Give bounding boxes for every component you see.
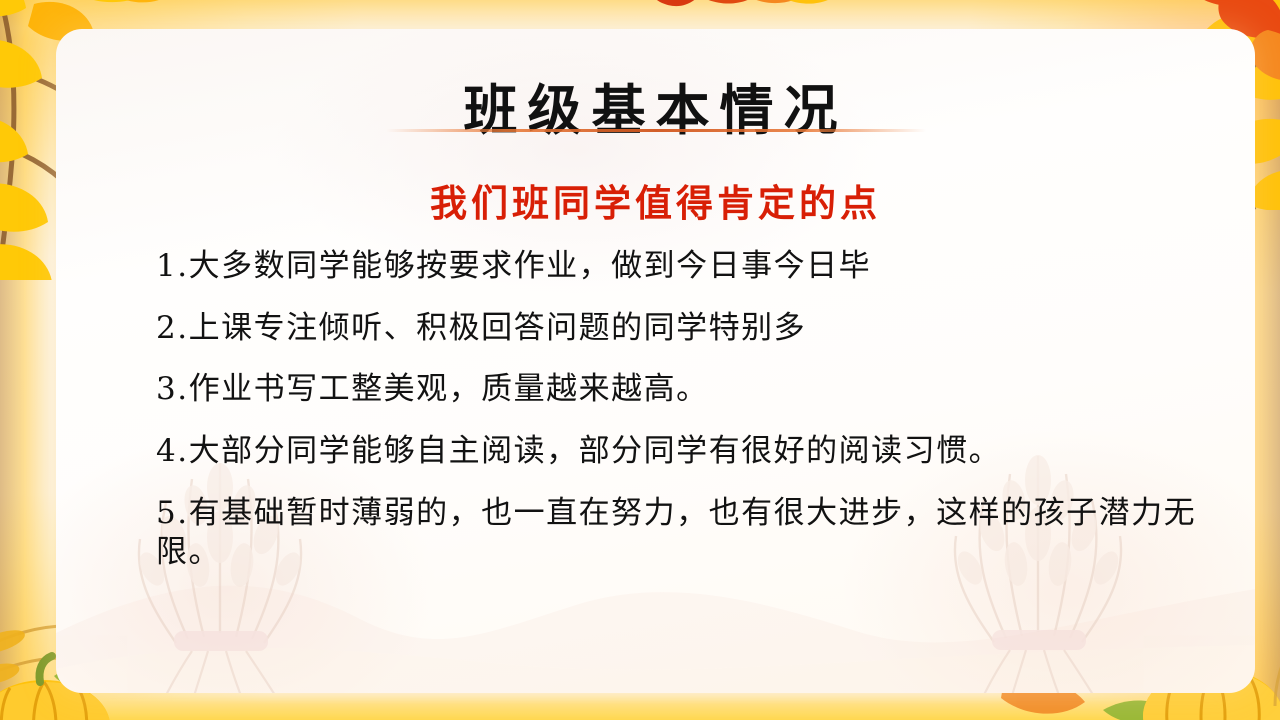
page-subtitle: 我们班同学值得肯定的点 — [56, 173, 1255, 227]
list-item: 5.有基础暂时薄弱的，也一直在努力，也有很大进步，这样的孩子潜力无限。 — [156, 494, 1216, 573]
slide-canvas: 班级基本情况 我们班同学值得肯定的点 1.大多数同学能够按要求作业，做到今日事今… — [0, 0, 1280, 720]
list-item: 4.大部分同学能够自主阅读，部分同学有很好的阅读习惯。 — [156, 432, 1216, 472]
list-item: 1.大多数同学能够按要求作业，做到今日事今日毕 — [156, 247, 1216, 287]
list-item: 3.作业书写工整美观，质量越来越高。 — [156, 370, 1216, 410]
list-item: 2.上课专注倾听、积极回答问题的同学特别多 — [156, 309, 1216, 349]
left-border-band — [0, 0, 62, 720]
points-list: 1.大多数同学能够按要求作业，做到今日事今日毕 2.上课专注倾听、积极回答问题的… — [156, 247, 1216, 573]
content-card: 班级基本情况 我们班同学值得肯定的点 1.大多数同学能够按要求作业，做到今日事今… — [56, 29, 1255, 693]
title-underline-rule — [386, 129, 926, 132]
